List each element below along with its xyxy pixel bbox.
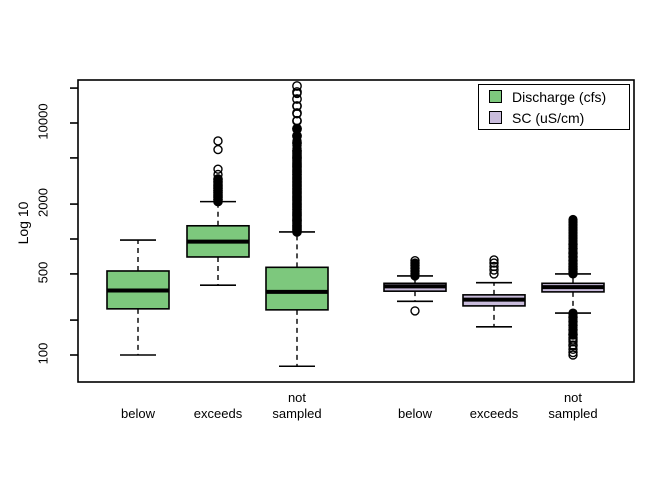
y-tick-label: 500 xyxy=(36,249,51,295)
stacked-outlier-column xyxy=(411,260,419,280)
box-group xyxy=(542,216,604,359)
x-tick-label: not sampled xyxy=(262,390,332,422)
y-tick-label: 2000 xyxy=(36,180,51,226)
outlier-point xyxy=(293,125,301,133)
outlier-point-dense xyxy=(569,260,577,268)
outlier-point xyxy=(214,165,222,173)
y-tick-label: 10000 xyxy=(36,99,51,145)
box-group xyxy=(107,240,169,355)
legend-label: Discharge (cfs) xyxy=(512,89,606,105)
legend-swatch-icon xyxy=(489,111,502,124)
outlier-point xyxy=(214,137,222,145)
legend-label: SC (uS/cm) xyxy=(512,110,584,126)
x-tick-label: not sampled xyxy=(538,390,608,422)
box-body xyxy=(266,267,328,310)
outlier-point-dense xyxy=(411,260,419,268)
box-group xyxy=(463,256,525,327)
y-axis-title: Log 10 xyxy=(15,178,31,268)
box-group xyxy=(187,137,249,285)
x-tick-label: exceeds xyxy=(434,406,554,422)
chart-canvas: Log 10 100002000500100 belowexceedsnot s… xyxy=(0,0,672,480)
outlier-point xyxy=(411,307,419,315)
outlier-point-dense xyxy=(214,175,222,183)
x-tick-label: exceeds xyxy=(158,406,278,422)
outlier-point-dense xyxy=(569,216,577,224)
outlier-point xyxy=(214,146,222,154)
y-tick-label: 100 xyxy=(36,331,51,377)
dense-outlier-column xyxy=(293,82,301,236)
stacked-outlier-column xyxy=(214,175,222,205)
legend-swatch-icon xyxy=(489,90,502,103)
legend: Discharge (cfs)SC (uS/cm) xyxy=(478,84,630,130)
legend-item[interactable]: Discharge (cfs) xyxy=(479,86,629,107)
legend-item[interactable]: SC (uS/cm) xyxy=(479,107,629,128)
stacked-outlier-column xyxy=(569,260,577,278)
